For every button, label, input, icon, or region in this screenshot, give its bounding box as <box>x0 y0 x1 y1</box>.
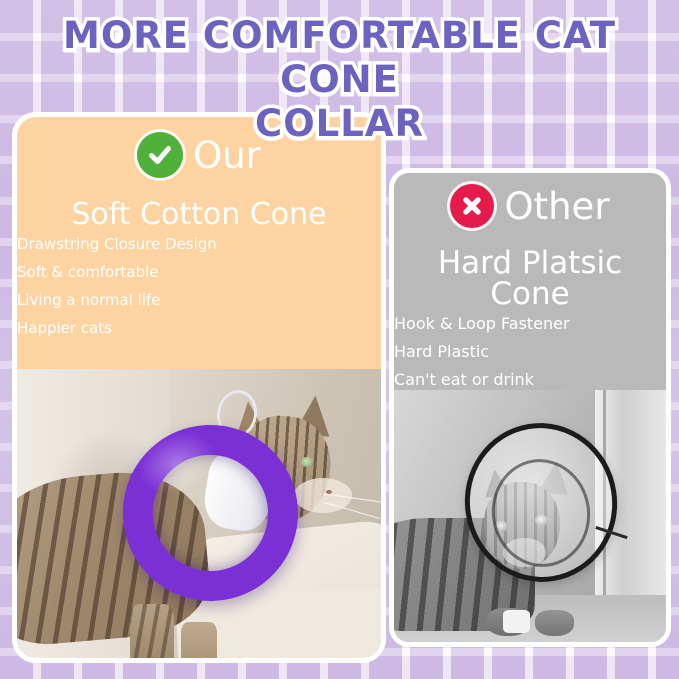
x-circle-icon <box>450 184 494 228</box>
other-product-card: Other Hard Platsic Cone Hook & Loop Fast… <box>389 168 671 647</box>
list-item: Hard Plastic <box>394 338 666 366</box>
our-heading: Soft Cotton Cone <box>17 200 381 230</box>
other-product-photo <box>394 390 666 646</box>
other-label: Other <box>504 188 609 225</box>
list-item: Hook & Loop Fastener <box>394 310 666 338</box>
list-item: Happier cats <box>17 314 381 342</box>
page-title: MORE COMFORTABLE CAT CONE COLLAR <box>0 14 679 146</box>
product-comparison-infographic: MORE COMFORTABLE CAT CONE COLLAR Other H… <box>0 0 679 679</box>
list-item: Living a normal life <box>17 286 381 314</box>
our-product-photo <box>17 369 381 663</box>
list-item: Drawstring Closure Design <box>17 230 381 258</box>
title-line-1: MORE COMFORTABLE CAT CONE <box>0 14 679 102</box>
list-item: Soft & comfortable <box>17 258 381 286</box>
our-product-card: Our Soft Cotton Cone Drawstring Closure … <box>12 112 386 663</box>
other-heading: Hard Platsic Cone <box>394 248 666 310</box>
title-line-2: COLLAR <box>0 102 679 146</box>
other-header-row: Other <box>394 184 666 228</box>
our-feature-list: Drawstring Closure Design Soft & comfort… <box>17 230 381 342</box>
